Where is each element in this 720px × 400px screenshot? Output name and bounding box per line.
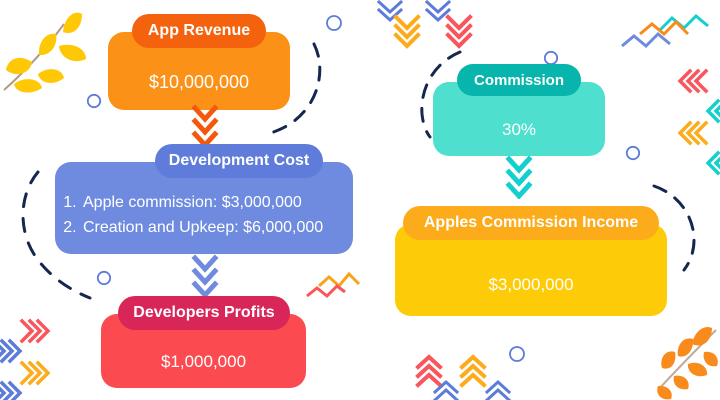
- chevron-cluster-icon-left-red: [18, 318, 50, 344]
- node-commission-label: Commission: [457, 64, 581, 96]
- zigzag-line-icon-mid: [305, 268, 367, 302]
- node-development-cost-list: Apple commission: $3,000,000 Creation an…: [55, 175, 353, 241]
- chevron-cluster-icon-bottom-yellow: [458, 354, 488, 386]
- node-development-cost-label: Development Cost: [155, 144, 323, 178]
- circle-outline-icon-4: [625, 145, 641, 161]
- node-development-cost[interactable]: Apple commission: $3,000,000 Creation an…: [55, 144, 353, 254]
- chevron-cluster-icon-top-yellow: [392, 14, 422, 48]
- chevron-cluster-icon-left-yellow: [18, 360, 50, 386]
- chevron-cluster-icon-right-red: [678, 68, 710, 94]
- node-apples-commission-income-value: $3,000,000: [395, 245, 667, 295]
- chevron-cluster-icon-top-blue-2: [424, 0, 452, 26]
- circle-outline-icon-2: [325, 14, 343, 32]
- connector-commission-to-income: [504, 155, 534, 204]
- diagram-canvas: $10,000,000 App Revenue Apple commission…: [0, 0, 720, 400]
- node-apples-commission-income-label: Apples Commission Income: [403, 206, 659, 240]
- chevron-cluster-icon-top-blue-1: [376, 0, 404, 26]
- chevron-cluster-icon-left-blue: [0, 338, 22, 364]
- chevron-cluster-icon-right-cyan: [706, 98, 720, 124]
- node-developers-profits-value: $1,000,000: [101, 330, 306, 372]
- node-developers-profits-label: Developers Profits: [118, 296, 290, 330]
- list-item: Apple commission: $3,000,000: [81, 191, 353, 216]
- list-item: Creation and Upkeep: $6,000,000: [81, 216, 353, 241]
- circle-outline-icon-1: [86, 93, 102, 109]
- node-app-revenue-label: App Revenue: [132, 14, 266, 48]
- zigzag-line-icon-top-right: [622, 8, 720, 52]
- node-apples-commission-income[interactable]: $3,000,000 Apples Commission Income: [395, 206, 667, 316]
- circle-outline-icon-6: [508, 345, 526, 363]
- chevron-cluster-icon-bottom-red: [414, 354, 444, 386]
- leaf-branch-icon-top-left: [2, 2, 102, 97]
- chevron-cluster-icon-bottom-blue-1: [432, 378, 460, 400]
- node-developers-profits[interactable]: $1,000,000 Developers Profits: [101, 296, 306, 388]
- chevron-cluster-icon-bottom-blue-2: [484, 378, 512, 400]
- leaf-branch-icon-bottom-right: [648, 322, 720, 400]
- chevron-cluster-icon-left-blue-2: [0, 380, 22, 400]
- node-commission[interactable]: 30% Commission: [433, 64, 605, 156]
- node-commission-value: 30%: [433, 98, 605, 140]
- chevron-cluster-icon-right-yellow: [678, 120, 710, 146]
- node-app-revenue-value: $10,000,000: [108, 50, 290, 93]
- circle-outline-icon-5: [96, 270, 112, 286]
- chevron-cluster-icon-top-red: [444, 14, 474, 48]
- chevron-cluster-icon-right-cyan-2: [706, 150, 720, 176]
- node-app-revenue[interactable]: $10,000,000 App Revenue: [108, 14, 290, 110]
